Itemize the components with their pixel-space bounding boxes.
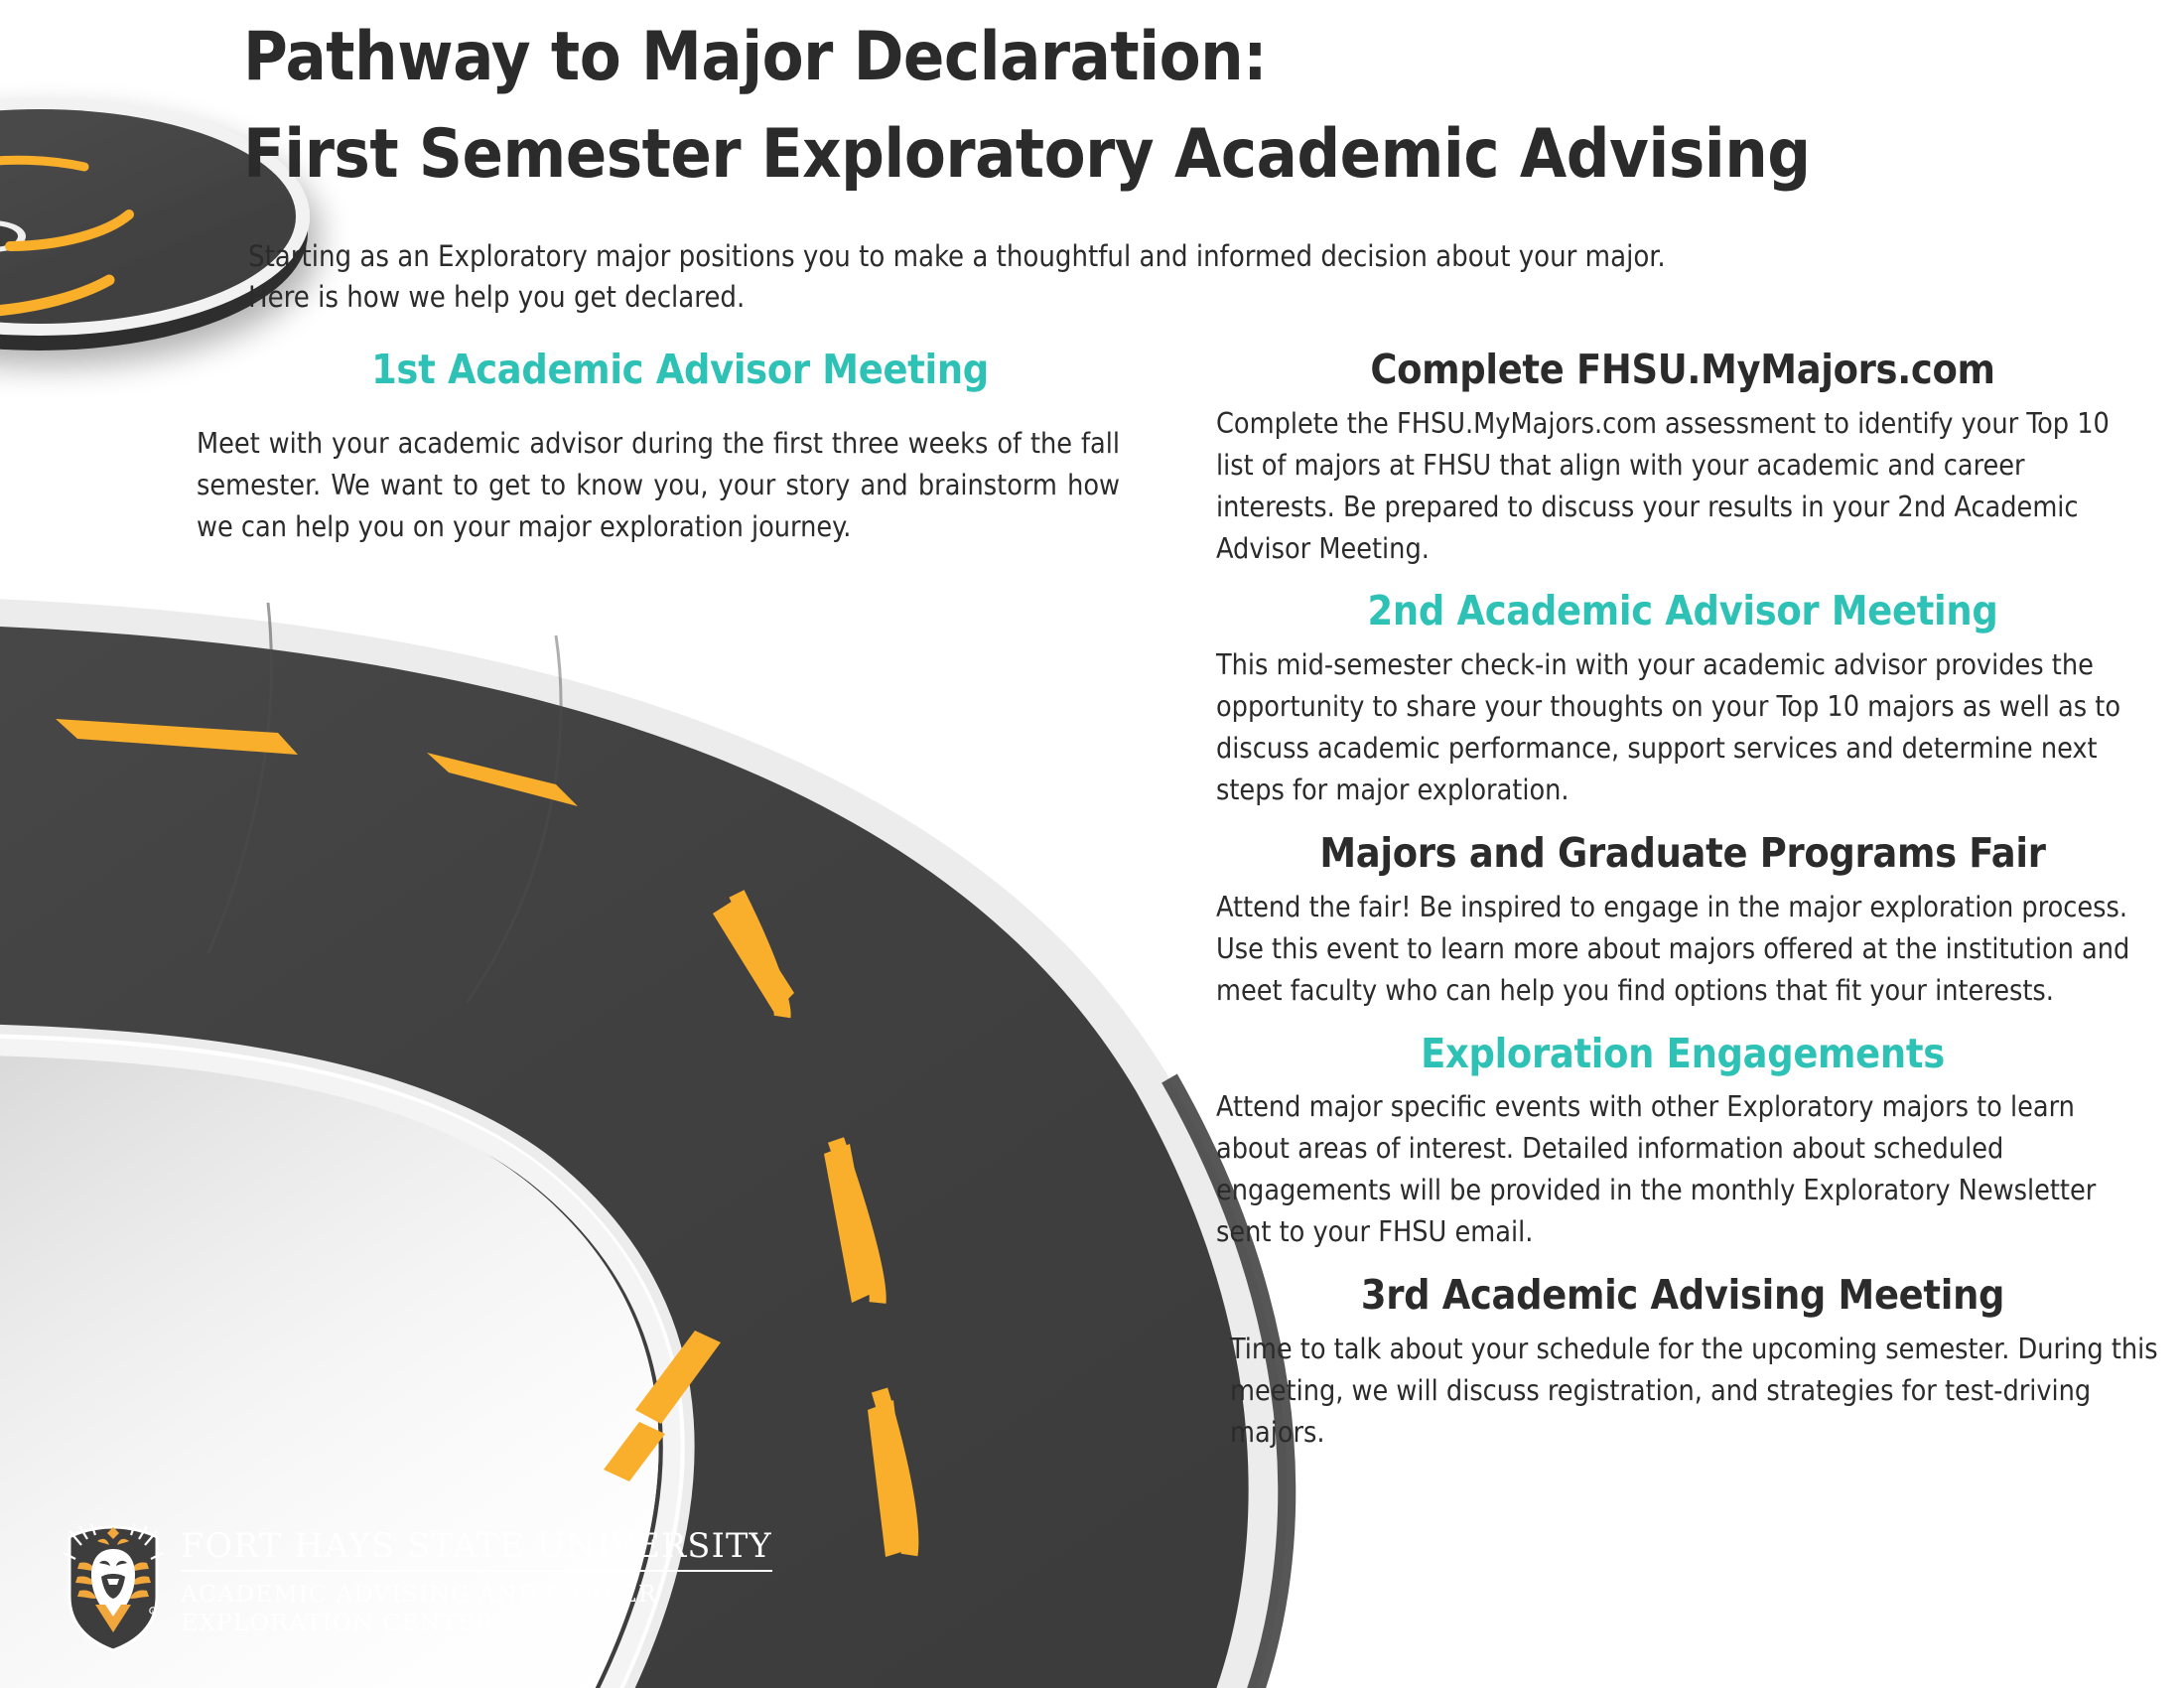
title-line-2: First Semester Exploratory Academic Advi…: [243, 119, 2040, 191]
logo-department-line-1: ACADEMIC ADVISING AND CAREER: [181, 1580, 772, 1610]
intro-paragraph: Starting as an Exploratory major positio…: [248, 236, 1995, 318]
section-body-3rd-advising-meeting: Time to talk about your schedule for the…: [1230, 1329, 2163, 1454]
intro-line-1: Starting as an Exploratory major positio…: [248, 236, 1995, 277]
section-heading-1st-advisor-meeting: 1st Academic Advisor Meeting: [189, 348, 1171, 393]
intro-line-2: Here is how we help you get declared.: [248, 277, 1995, 318]
section-heading-3rd-advising-meeting: 3rd Academic Advising Meeting: [1216, 1273, 2149, 1319]
section-body-exploration-engagements: Attend major specific events with other …: [1216, 1086, 2149, 1253]
title-line-1: Pathway to Major Declaration:: [243, 22, 2040, 93]
right-column: Complete FHSU.MyMajors.com Complete the …: [1216, 348, 2149, 1458]
section-body-majors-fair: Attend the fair! Be inspired to engage i…: [1216, 887, 2149, 1012]
section-heading-majors-fair: Majors and Graduate Programs Fair: [1216, 831, 2149, 877]
section-heading-exploration-engagements: Exploration Engagements: [1216, 1032, 2149, 1077]
section-complete-mymajors: Complete FHSU.MyMajors.com Complete the …: [1216, 348, 2149, 569]
section-2nd-academic-advisor-meeting: 2nd Academic Advisor Meeting This mid-se…: [1216, 589, 2149, 810]
section-body-complete-mymajors: Complete the FHSU.MyMajors.com assessmen…: [1216, 403, 2149, 570]
logo-divider: [181, 1570, 772, 1572]
section-majors-graduate-programs-fair: Majors and Graduate Programs Fair Attend…: [1216, 831, 2149, 1012]
left-column: 1st Academic Advisor Meeting Meet with y…: [189, 348, 1171, 552]
section-3rd-academic-advising-meeting: 3rd Academic Advising Meeting Time to ta…: [1216, 1273, 2149, 1454]
fhsu-logo: R FORT HAYS STATE UNIVERSITY ACADEMIC AD…: [62, 1523, 756, 1662]
section-body-2nd-advisor-meeting: This mid-semester check-in with your aca…: [1216, 644, 2149, 811]
tiger-head-shield-icon: R: [62, 1523, 165, 1654]
section-heading-complete-mymajors: Complete FHSU.MyMajors.com: [1216, 348, 2149, 393]
section-heading-2nd-advisor-meeting: 2nd Academic Advisor Meeting: [1216, 589, 2149, 634]
section-1st-academic-advisor-meeting: 1st Academic Advisor Meeting Meet with y…: [189, 348, 1171, 548]
section-body-1st-advisor-meeting: Meet with your academic advisor during t…: [197, 423, 1120, 548]
page-title: Pathway to Major Declaration: First Seme…: [243, 22, 2040, 191]
section-exploration-engagements: Exploration Engagements Attend major spe…: [1216, 1032, 2149, 1253]
logo-department-line-2: EXPLORATION CENTER: [181, 1609, 772, 1638]
logo-university-name: FORT HAYS STATE UNIVERSITY: [181, 1529, 772, 1563]
